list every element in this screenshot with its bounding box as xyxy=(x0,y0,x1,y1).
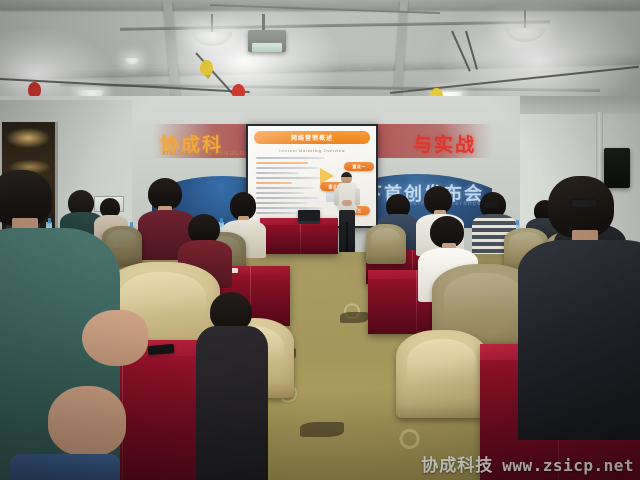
eyeglasses xyxy=(482,202,498,208)
slide-body-text xyxy=(256,157,328,217)
eyeglasses-foreground xyxy=(570,198,598,209)
lamp-rod-2 xyxy=(524,10,526,28)
presenter xyxy=(336,172,358,256)
right-soffit xyxy=(520,96,640,114)
attendee-forearm xyxy=(48,386,126,456)
balloon-yellow-center xyxy=(200,60,213,76)
slide-text-line xyxy=(256,202,308,204)
slide-text-line xyxy=(256,212,299,214)
door-light-upper xyxy=(6,128,50,148)
attendee-jeans xyxy=(10,454,120,480)
chair-mid-right-1 xyxy=(366,224,406,264)
slide-text-line xyxy=(256,157,325,159)
carpet-shadow xyxy=(340,312,368,323)
slide-title: 网络营销概述 xyxy=(291,133,333,142)
slide-text-line xyxy=(256,167,319,169)
carpet-shadow xyxy=(300,422,344,437)
wall-speaker xyxy=(604,148,630,188)
slide-text-line xyxy=(256,172,299,174)
ceiling-track-1 xyxy=(120,20,550,31)
laptop-presenter-table xyxy=(298,210,320,221)
presenter-arm-right xyxy=(355,188,360,206)
slide-text-line xyxy=(256,207,322,209)
slide-callout-1: 重点一 xyxy=(344,162,374,171)
table-fold xyxy=(416,270,417,334)
slide-text-line xyxy=(256,182,292,184)
presenter-hands xyxy=(342,200,352,206)
chair-front-right-2 xyxy=(396,330,488,418)
conference-room-photo: 协成科 XIECHENG TECHNOLOGY 与实战 下首创发布会 Inter… xyxy=(0,0,640,480)
slide-text-line xyxy=(256,197,319,199)
presenter-legs xyxy=(339,210,355,256)
backdrop-title-right: 与实战 xyxy=(413,130,476,157)
slide-subtitle: Internet Marketing Overview xyxy=(248,148,376,153)
backdrop-subtitle-left: XIECHENG TECHNOLOGY xyxy=(162,151,256,157)
presenter-arm-left xyxy=(334,188,339,206)
slide-text-line xyxy=(256,162,308,164)
attendee-arm-hand xyxy=(82,310,148,366)
slide-text-line xyxy=(256,187,314,189)
ceiling-projector xyxy=(248,30,286,52)
slide-text-line xyxy=(256,177,322,179)
slide-header-bar: 网络营销概述 xyxy=(254,131,370,144)
presenter-shirt xyxy=(337,183,357,211)
slide-text-line xyxy=(256,192,304,194)
lamp-rod-1 xyxy=(211,14,213,32)
attendee-torso xyxy=(518,240,640,440)
attendee-torso xyxy=(196,326,268,480)
